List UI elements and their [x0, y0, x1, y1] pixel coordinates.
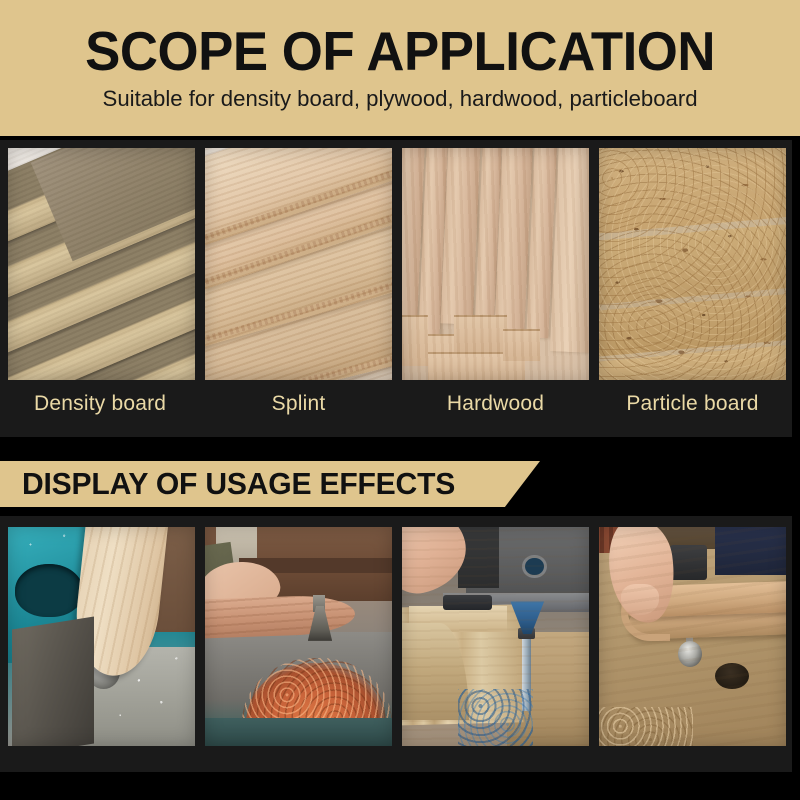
material-caption-hardwood: Hardwood [402, 384, 589, 424]
photo-vignette [402, 527, 589, 746]
material-caption-splint: Splint [205, 384, 392, 424]
material-photo-particle-board [599, 148, 786, 380]
usage-photo-router-bit-shavings [205, 527, 392, 746]
usage-photo-router-table-teal [8, 527, 195, 746]
materials-caption-row: Density board Splint Hardwood Particle b… [8, 384, 792, 424]
material-photo-splint [205, 148, 392, 380]
usage-section-heading: DISPLAY OF USAGE EFFECTS [22, 461, 455, 507]
photo-vignette [599, 527, 786, 746]
usage-section-ribbon: DISPLAY OF USAGE EFFECTS [0, 461, 540, 507]
page-title: SCOPE OF APPLICATION [85, 23, 715, 79]
photo-vignette [599, 148, 786, 380]
photo-vignette [205, 527, 392, 746]
photo-vignette [8, 527, 195, 746]
materials-image-grid [8, 148, 792, 380]
usage-photo-hand-curved-wood [599, 527, 786, 746]
header-banner: SCOPE OF APPLICATION Suitable for densit… [0, 0, 800, 136]
material-caption-particle-board: Particle board [599, 384, 786, 424]
material-caption-density-board: Density board [8, 384, 195, 424]
page-subtitle: Suitable for density board, plywood, har… [102, 87, 697, 111]
photo-vignette [402, 148, 589, 380]
material-photo-hardwood [402, 148, 589, 380]
usage-photo-blue-bit-molding [402, 527, 589, 746]
materials-panel: Density board Splint Hardwood Particle b… [0, 140, 792, 437]
material-photo-density-board [8, 148, 195, 380]
photo-vignette [205, 148, 392, 380]
photo-vignette [8, 148, 195, 380]
usage-image-grid [8, 527, 792, 746]
usage-panel [0, 516, 792, 772]
